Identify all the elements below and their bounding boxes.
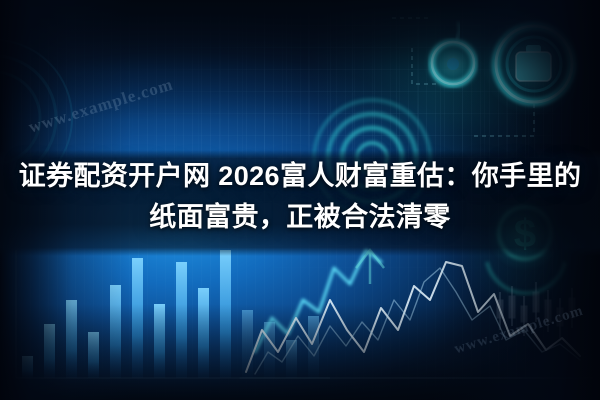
headline-line-1: 证券配资开户网 2026富人财富重估：你手里的	[18, 156, 582, 197]
headline-text: 证券配资开户网 2026富人财富重估：你手里的 纸面富贵，正被合法清零	[0, 156, 600, 238]
headline-line-2: 纸面富贵，正被合法清零	[18, 197, 582, 238]
finance-banner-image: $	[0, 0, 600, 400]
